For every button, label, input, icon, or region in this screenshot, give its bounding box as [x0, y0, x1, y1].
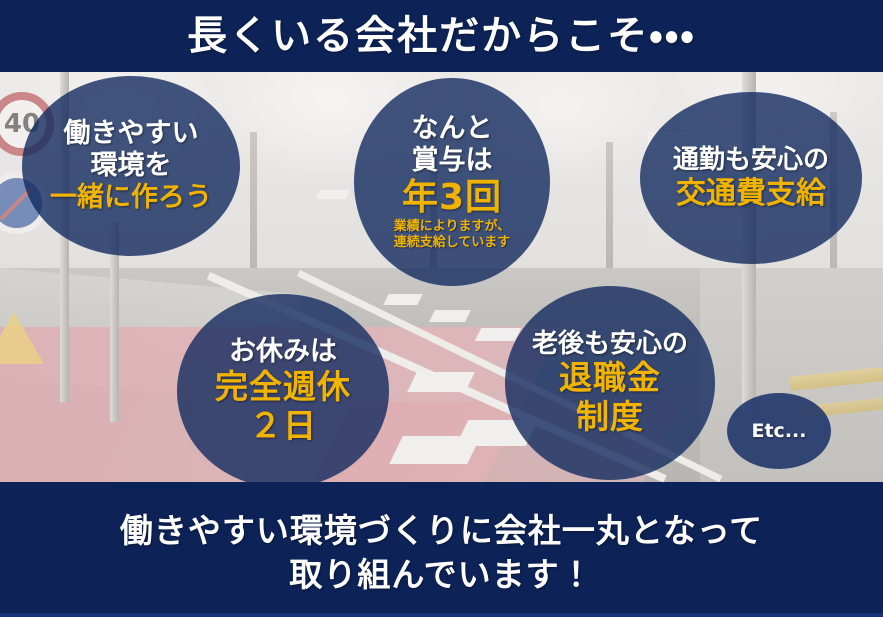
bubble-highlight: 制度 — [576, 398, 644, 437]
bubble-line: Etc... — [752, 420, 807, 442]
bubble-line: お休みは — [229, 336, 337, 368]
benefit-bubble-etc[interactable]: Etc... — [727, 393, 831, 469]
bubble-line: 賞与は — [412, 145, 493, 177]
bubble-highlight: 年3回 — [402, 177, 502, 219]
bubble-line: 環境を — [91, 150, 172, 182]
bubble-highlight: 一緒に作ろう — [50, 182, 212, 214]
poster-canvas: 40 長くいる会社だからこそ・・・ 働きやすい 環境を 一緒に作ろう なんと 賞… — [0, 0, 883, 617]
benefit-bubble-holiday[interactable]: お休みは 完全週休 ２日 — [177, 294, 389, 488]
benefit-bubble-bonus[interactable]: なんと 賞与は 年3回 業績によりますが、 連続支給しています — [354, 78, 550, 286]
footer-line-2: 取り組んでいます！ — [289, 553, 593, 597]
header-banner: 長くいる会社だからこそ・・・ — [0, 0, 883, 72]
benefit-bubble-retirement[interactable]: 老後も安心の 退職金 制度 — [505, 286, 715, 480]
footer-banner: 働きやすい環境づくりに会社一丸となって 取り組んでいます！ — [0, 482, 883, 617]
bubble-highlight: 完全週休 — [215, 368, 351, 407]
footer-line-1: 働きやすい環境づくりに会社一丸となって — [120, 509, 763, 553]
benefit-bubble-environment[interactable]: 働きやすい 環境を 一緒に作ろう — [22, 76, 240, 256]
bubble-line: 老後も安心の — [532, 329, 688, 360]
bubble-note-line: 連続支給しています — [394, 235, 511, 251]
benefit-bubble-commute[interactable]: 通勤も安心の 交通費支給 — [640, 92, 862, 264]
bubble-line: なんと — [412, 113, 493, 145]
header-title: 長くいる会社だからこそ・・・ — [187, 16, 696, 56]
bubble-highlight: 退職金 — [559, 359, 661, 398]
bottom-edge-strip — [0, 613, 883, 617]
bubble-line: 通勤も安心の — [673, 145, 829, 176]
bubble-line: 働きやすい — [64, 118, 199, 150]
bubble-highlight: 交通費支給 — [676, 176, 826, 211]
bubble-highlight: ２日 — [249, 407, 317, 446]
bubble-note-line: 業績によりますが、 — [394, 219, 510, 235]
